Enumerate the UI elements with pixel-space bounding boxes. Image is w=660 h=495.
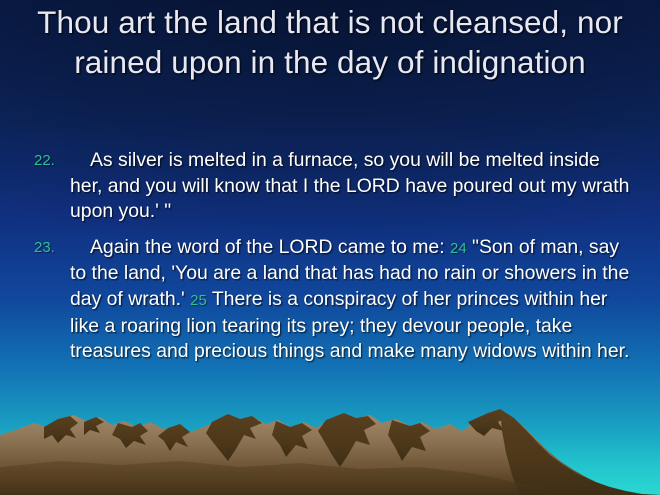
verse-item: 22. As silver is melted in a furnace, so…: [30, 148, 636, 225]
inline-verse-marker-25: 25: [190, 292, 207, 309]
inline-verse-marker-24: 24: [450, 240, 467, 257]
mountain-range-silhouette: [0, 405, 660, 495]
slide-title: Thou art the land that is not cleansed, …: [28, 2, 632, 82]
verse-item: 23. Again the word of the LORD came to m…: [30, 235, 636, 365]
verse-text: As silver is melted in a furnace, so you…: [70, 149, 629, 222]
slide-body: 22. As silver is melted in a furnace, so…: [30, 148, 636, 365]
mountain-shadow-facet: [500, 409, 660, 495]
verse-text-part-a: Again the word of the LORD came to me:: [70, 236, 450, 258]
presentation-slide: Thou art the land that is not cleansed, …: [0, 0, 660, 495]
verse-number: 23.: [34, 238, 55, 257]
verse-number: 22.: [34, 151, 55, 170]
